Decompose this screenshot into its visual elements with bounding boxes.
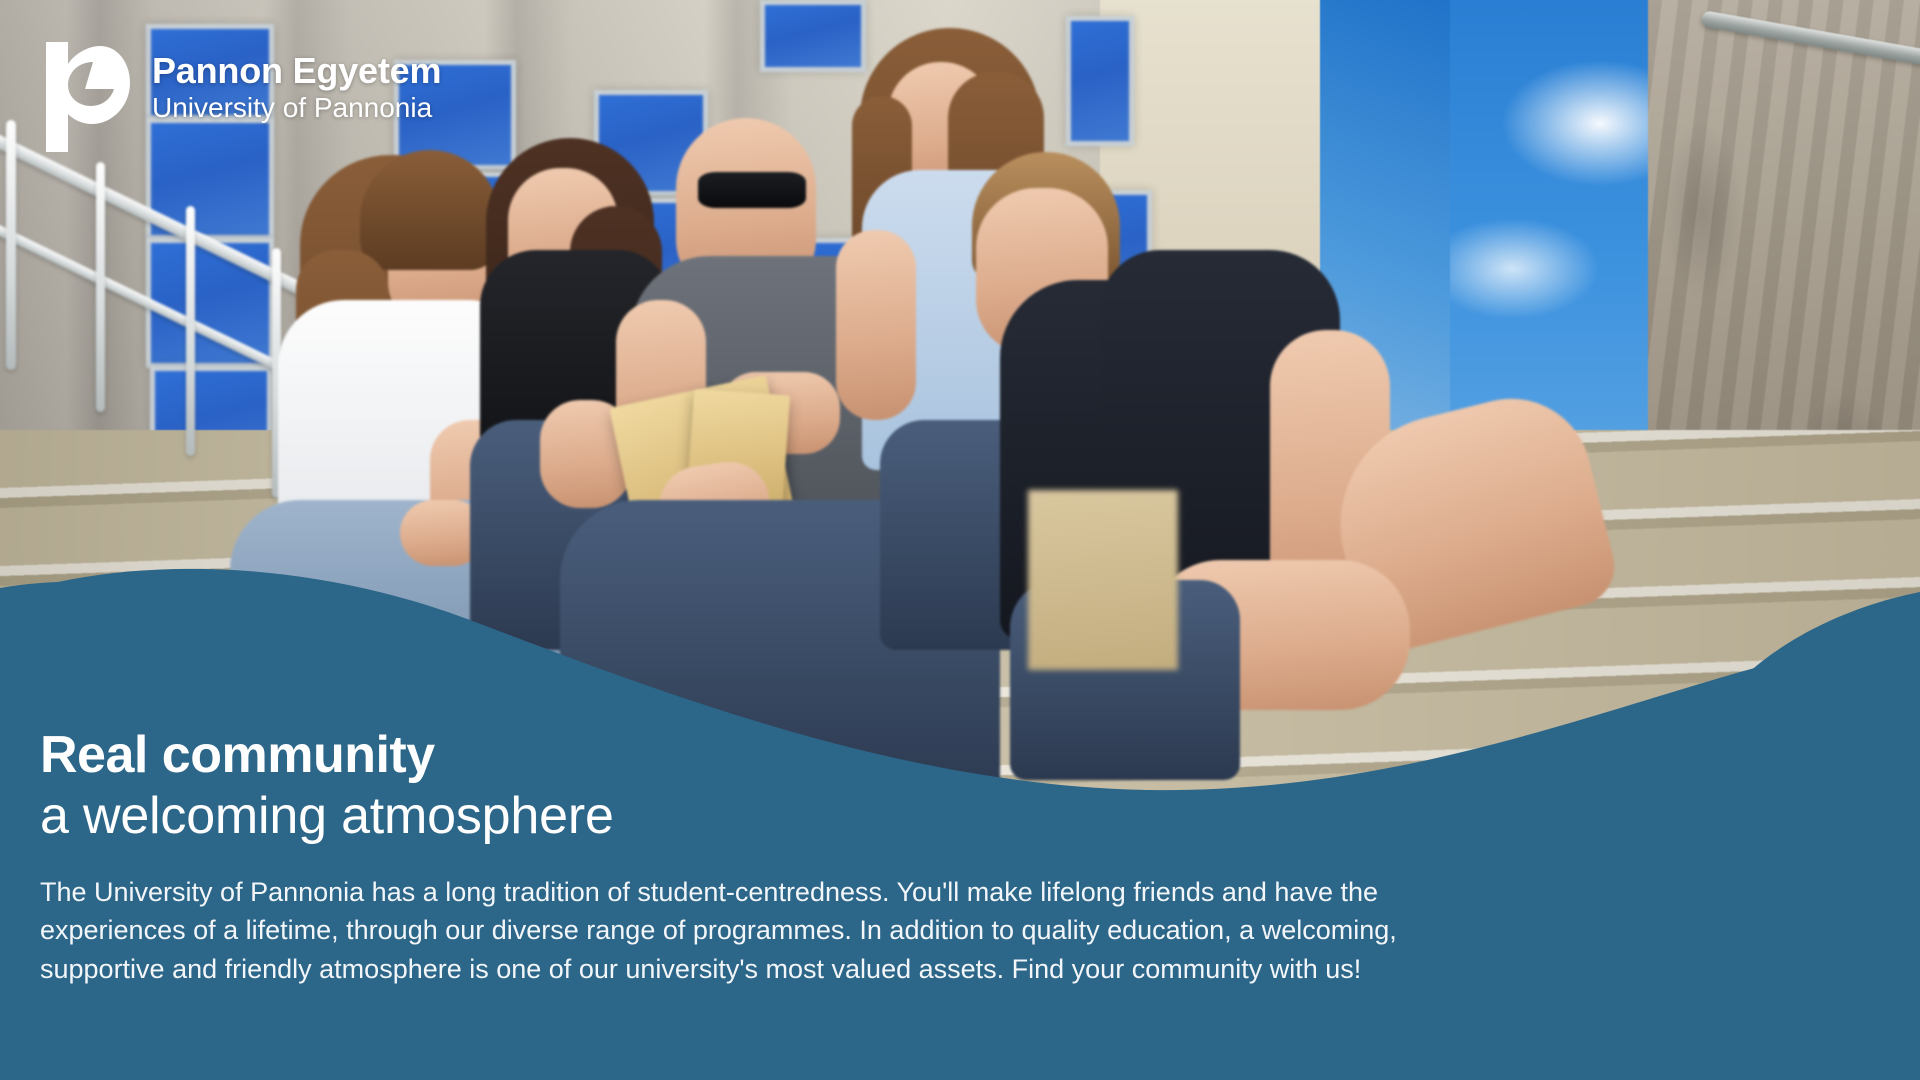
body-line-3: supportive and friendly atmosphere is on…	[40, 950, 1830, 989]
hero-banner: Pannon Egyetem University of Pannonia Re…	[0, 0, 1920, 1080]
hero-subheadline: a welcoming atmosphere	[40, 786, 1830, 846]
logo-title: Pannon Egyetem	[152, 52, 441, 90]
logo-wordmark: Pannon Egyetem University of Pannonia	[152, 38, 441, 127]
window	[1066, 16, 1134, 146]
body-line-2: experiences of a lifetime, through our d…	[40, 911, 1830, 950]
body-line-1: The University of Pannonia has a long tr…	[40, 873, 1830, 912]
window	[760, 0, 866, 72]
logo-subtitle: University of Pannonia	[152, 90, 441, 127]
hero-content: Real community a welcoming atmosphere Th…	[40, 726, 1830, 989]
university-logo[interactable]: Pannon Egyetem University of Pannonia	[38, 38, 441, 156]
hero-headline: Real community	[40, 726, 1830, 784]
hero-body-copy: The University of Pannonia has a long tr…	[40, 873, 1830, 990]
pannon-p-logo-icon	[38, 38, 130, 156]
